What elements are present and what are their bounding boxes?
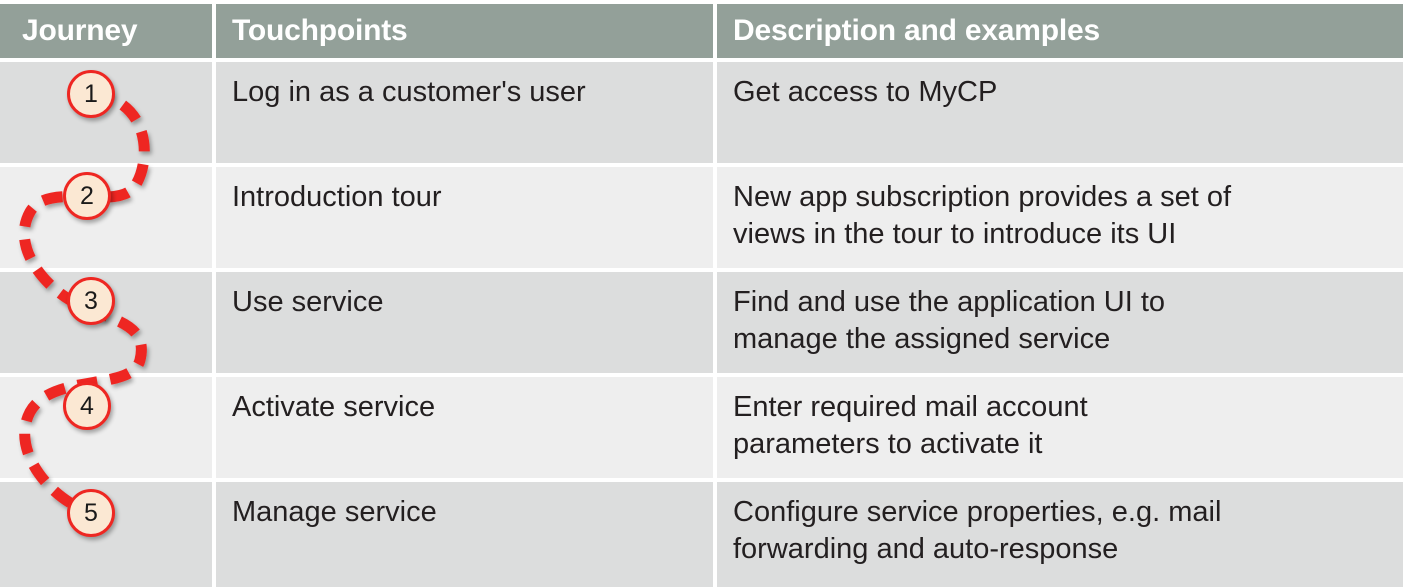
- journey-cell: [0, 62, 212, 163]
- description-text: Enter required mail account parameters t…: [717, 377, 1088, 463]
- table-row: Manage service Configure service propert…: [0, 482, 1403, 587]
- table-row: Use service Find and use the application…: [0, 272, 1403, 373]
- touchpoint-cell: Manage service: [216, 482, 713, 587]
- journey-cell: [0, 482, 212, 587]
- journey-cell: [0, 272, 212, 373]
- description-text: Configure service properties, e.g. mail …: [717, 482, 1221, 568]
- journey-cell: [0, 377, 212, 478]
- touchpoint-text: Manage service: [216, 482, 437, 531]
- touchpoint-text: Introduction tour: [216, 167, 442, 216]
- description-text: Get access to MyCP: [717, 62, 997, 111]
- description-cell: Enter required mail account parameters t…: [717, 377, 1403, 478]
- table-row: Introduction tour New app subscription p…: [0, 167, 1403, 268]
- customer-journey-table: Journey Touchpoints Description and exam…: [0, 0, 1403, 587]
- description-text: New app subscription provides a set of v…: [717, 167, 1231, 253]
- column-header-journey: Journey: [0, 4, 212, 58]
- touchpoint-text: Log in as a customer's user: [216, 62, 586, 111]
- touchpoint-cell: Log in as a customer's user: [216, 62, 713, 163]
- column-header-description-label: Description and examples: [717, 14, 1100, 48]
- journey-cell: [0, 167, 212, 268]
- touchpoint-cell: Activate service: [216, 377, 713, 478]
- table-row: Log in as a customer's user Get access t…: [0, 62, 1403, 163]
- column-header-journey-label: Journey: [0, 14, 137, 48]
- description-cell: Configure service properties, e.g. mail …: [717, 482, 1403, 587]
- touchpoint-text: Activate service: [216, 377, 435, 426]
- table-row: Activate service Enter required mail acc…: [0, 377, 1403, 478]
- column-header-touchpoints: Touchpoints: [216, 4, 713, 58]
- touchpoint-cell: Introduction tour: [216, 167, 713, 268]
- column-header-touchpoints-label: Touchpoints: [216, 14, 408, 48]
- table-header-row: Journey Touchpoints Description and exam…: [0, 4, 1403, 58]
- column-header-description: Description and examples: [717, 4, 1403, 58]
- description-cell: New app subscription provides a set of v…: [717, 167, 1403, 268]
- description-cell: Get access to MyCP: [717, 62, 1403, 163]
- touchpoint-cell: Use service: [216, 272, 713, 373]
- touchpoint-text: Use service: [216, 272, 384, 321]
- description-text: Find and use the application UI to manag…: [717, 272, 1165, 358]
- description-cell: Find and use the application UI to manag…: [717, 272, 1403, 373]
